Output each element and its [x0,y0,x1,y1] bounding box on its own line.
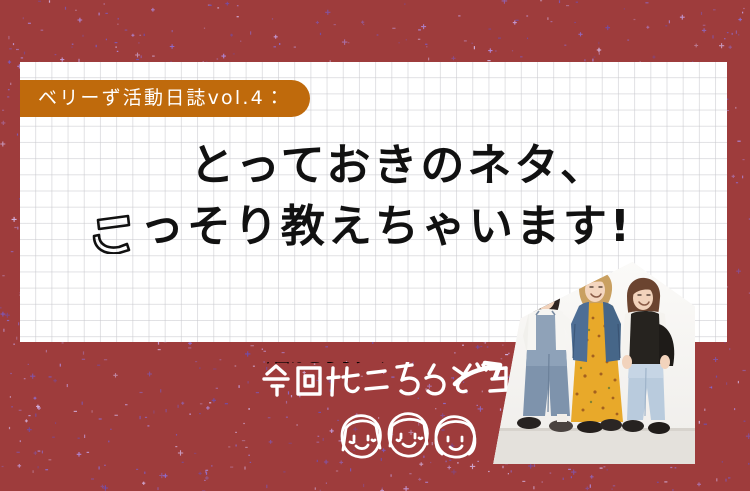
headline-block: とっておきのネタ、 こ っそり教えちゃいます! [20,136,727,257]
handwritten-note-text: 今回はこちらダヨ [258,362,386,366]
series-badge-label: ベリーず活動日誌vol.4： [38,89,286,108]
banner-canvas: ベリーず活動日誌vol.4： とっておきのネタ、 こ っそり教えちゃいます! [0,0,750,491]
headline-line-1-text: とっておきのネタ、 [190,136,607,197]
hollow-ko-character-icon: こ [92,210,136,254]
series-badge: ベリーず活動日誌vol.4： [20,80,310,117]
headline-line-1: とっておきのネタ、 [20,136,691,197]
doodle-face-count: 3 [330,410,339,414]
three-faces-doodle-icon: 3 [330,410,500,472]
curved-arrow-up-right-icon [452,360,512,396]
headline-line-2: こ っそり教えちゃいます! [20,197,691,258]
headline-line-2-text: っそり教えちゃいます! [140,197,633,258]
